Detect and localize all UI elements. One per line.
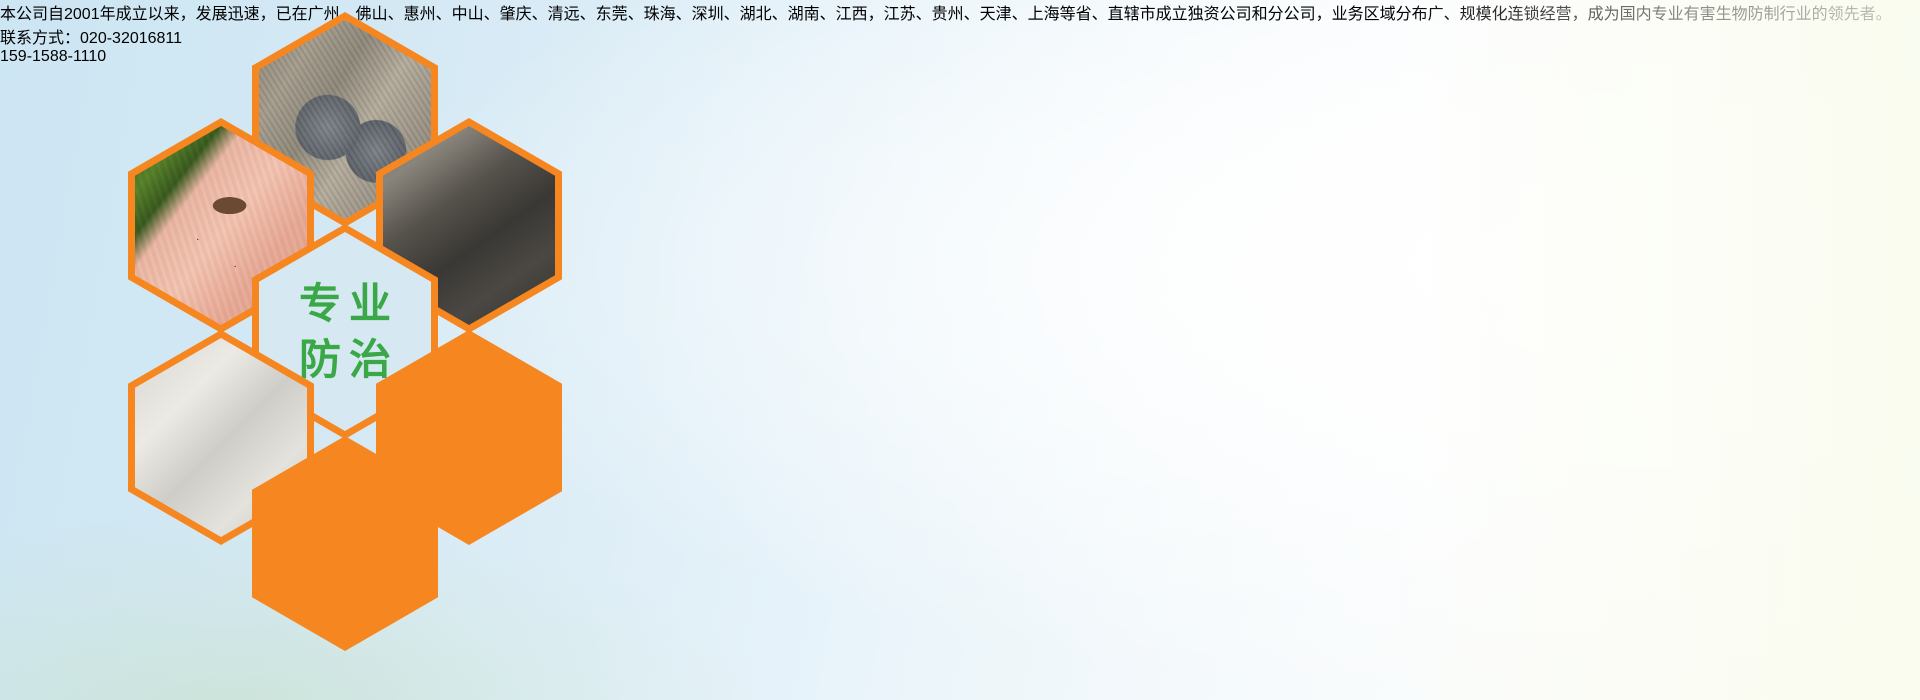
pest-control-banner: 专业 防治 本公司自2001年成立以来，发展迅速，已在广州、佛山、惠州、中山、肇…	[0, 0, 1920, 700]
hex-inner-ant	[259, 444, 431, 643]
slogan-line-1: 专业	[291, 283, 399, 325]
right-light-wash	[1400, 0, 1920, 700]
hexagon-photo-cluster: 专业 防治	[86, 8, 586, 568]
slogan-line-2: 防治	[291, 339, 399, 381]
contact-label: 联系方式：	[0, 30, 80, 47]
ant-photo-icon	[259, 444, 431, 643]
